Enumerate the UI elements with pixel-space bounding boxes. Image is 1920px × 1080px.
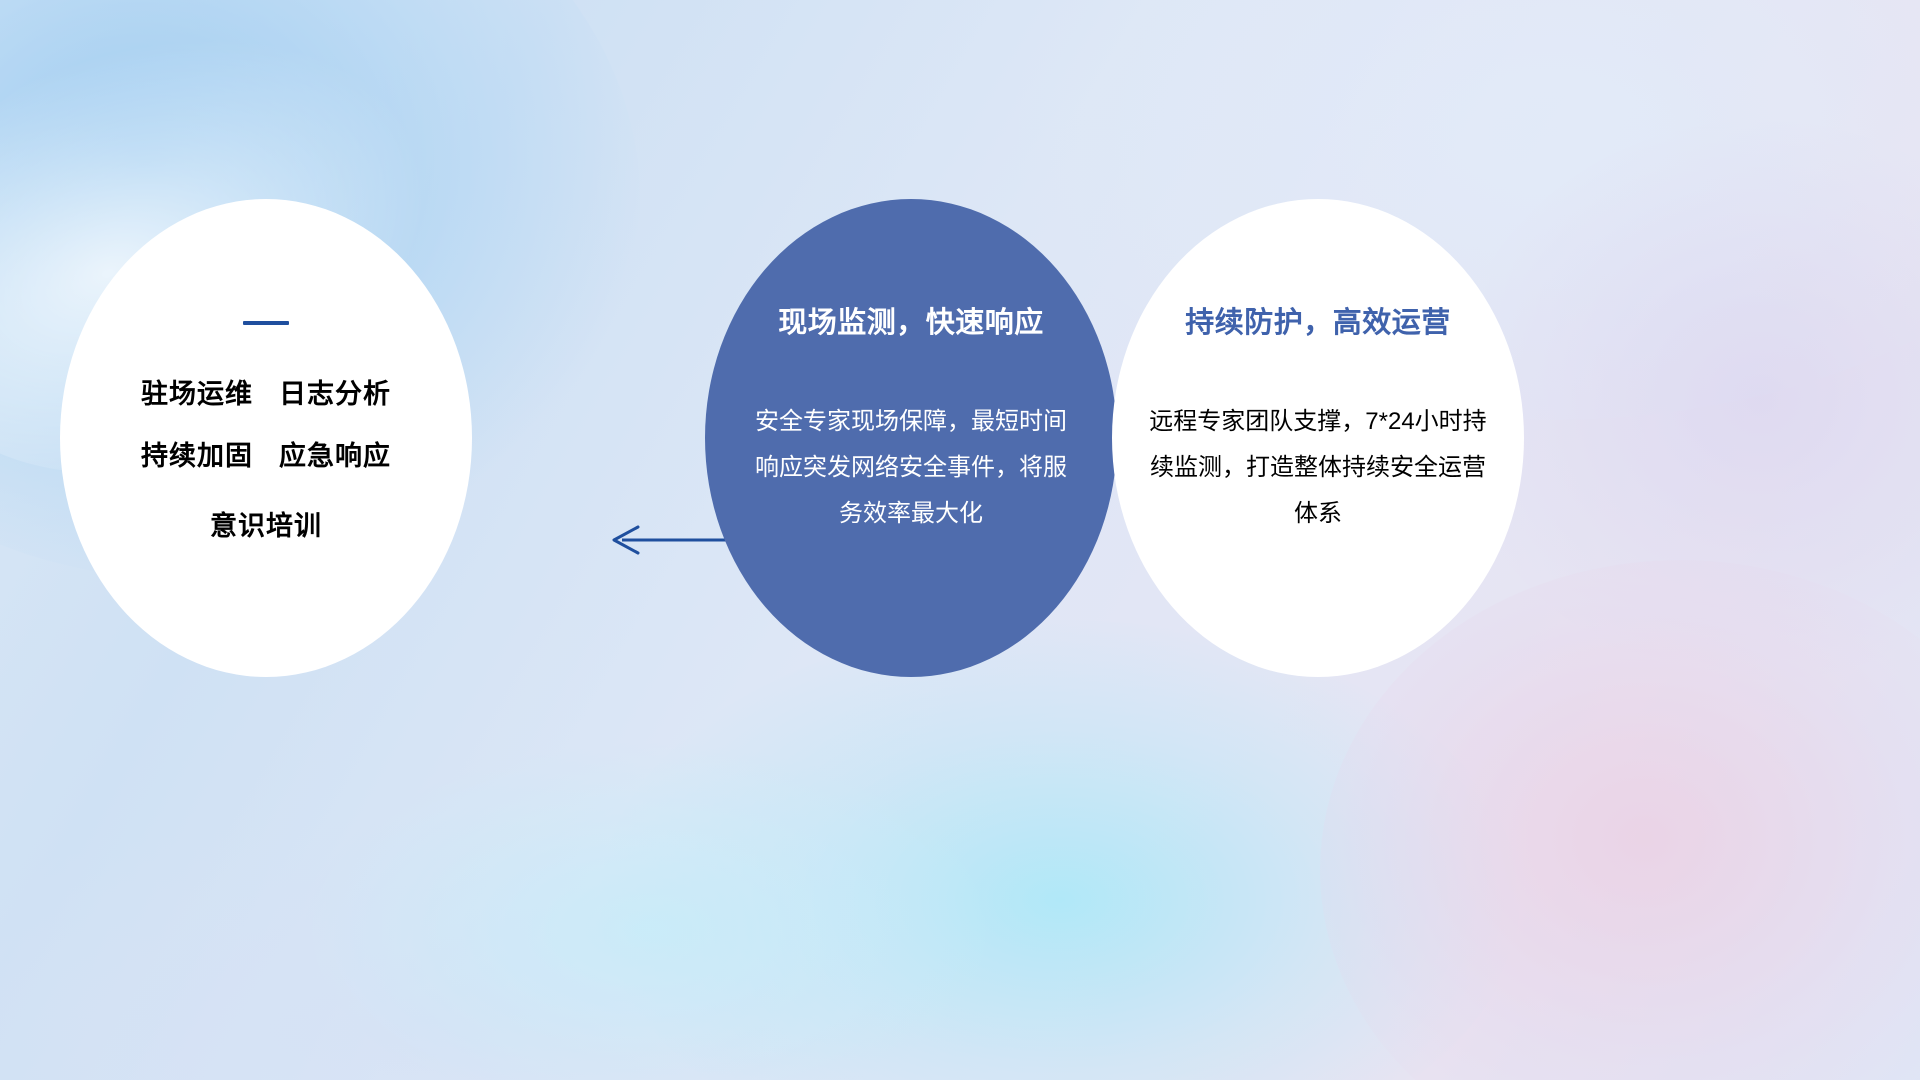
right-circle-title: 持续防护，高效运营 — [1185, 299, 1451, 341]
capability-row: 持续加固应急响应 — [141, 425, 391, 487]
background-glow-bottom — [0, 820, 1000, 1080]
capability-item: 持续加固 — [141, 441, 253, 471]
capability-item: 意识培训 — [210, 511, 322, 541]
right-operations-circle[interactable]: 持续防护，高效运营 远程专家团队支撑，7*24小时持续监测，打造整体持续安全运营… — [1112, 199, 1524, 677]
capability-row: 意识培训 — [141, 495, 391, 557]
middle-circle-body: 安全专家现场保障，最短时间响应突发网络安全事件，将服务效率最大化 — [751, 399, 1071, 537]
capability-item: 日志分析 — [279, 379, 391, 409]
left-capability-list: 驻场运维日志分析 持续加固应急响应 意识培训 — [141, 363, 391, 557]
slide-canvas: 驻场运维日志分析 持续加固应急响应 意识培训 现场监测，快速响应 安全专家现场保… — [0, 0, 1920, 1080]
background-glow-cyan — [600, 620, 1520, 1080]
middle-circle-content: 现场监测，快速响应 安全专家现场保障，最短时间响应突发网络安全事件，将服务效率最… — [705, 199, 1117, 677]
left-circle-content: 驻场运维日志分析 持续加固应急响应 意识培训 — [60, 199, 472, 677]
blue-dash-icon — [243, 321, 289, 325]
capability-row: 驻场运维日志分析 — [141, 363, 391, 425]
middle-onsite-circle[interactable]: 现场监测，快速响应 安全专家现场保障，最短时间响应突发网络安全事件，将服务效率最… — [705, 199, 1117, 677]
right-circle-body: 远程专家团队支撑，7*24小时持续监测，打造整体持续安全运营体系 — [1148, 399, 1488, 537]
right-circle-content: 持续防护，高效运营 远程专家团队支撑，7*24小时持续监测，打造整体持续安全运营… — [1112, 199, 1524, 677]
background-glow-cyan-secondary — [300, 740, 1000, 1080]
left-capability-circle[interactable]: 驻场运维日志分析 持续加固应急响应 意识培训 — [60, 199, 472, 677]
capability-item: 驻场运维 — [141, 379, 253, 409]
middle-circle-title: 现场监测，快速响应 — [778, 299, 1044, 341]
capability-item: 应急响应 — [279, 441, 391, 471]
